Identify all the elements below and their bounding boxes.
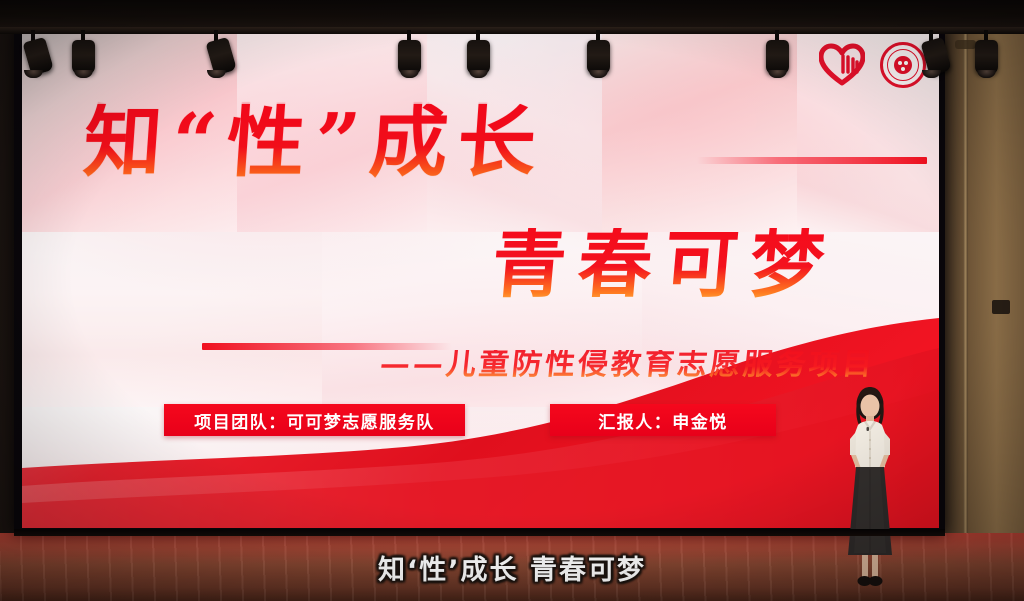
slide-title-line-2: 青春可梦 [489, 228, 839, 302]
project-team-bar: 项目团队：可可梦志愿服务队 [164, 404, 465, 436]
decor-rule-right [697, 157, 927, 164]
presenter-bar: 汇报人：申金悦 [550, 404, 776, 436]
slide-subtitle: ——儿童防性侵教育志愿服务项目 [378, 350, 876, 380]
slide-title-line-1: 知“性”成长 [81, 104, 548, 182]
circular-youth-league-badge-icon [880, 42, 926, 88]
led-screen: 知“性”成长 青春可梦 ——儿童防性侵教育志愿服务项目 项目团队：可可梦志愿服务… [22, 32, 939, 528]
wall-right-panel [932, 0, 1024, 601]
stage-scene: 知“性”成长 青春可梦 ——儿童防性侵教育志愿服务项目 项目团队：可可梦志愿服务… [0, 0, 1024, 601]
truss-bar [0, 27, 1024, 34]
heart-hand-volunteer-logo-icon [819, 42, 865, 86]
wall-pole [963, 28, 968, 573]
wall-pole-base [955, 40, 976, 49]
wall-mounted-box [992, 300, 1010, 314]
video-caption: 知‘性’成长 青春可梦 [0, 548, 1024, 587]
ceiling [0, 0, 1024, 30]
screen-base-shadow [14, 529, 945, 536]
